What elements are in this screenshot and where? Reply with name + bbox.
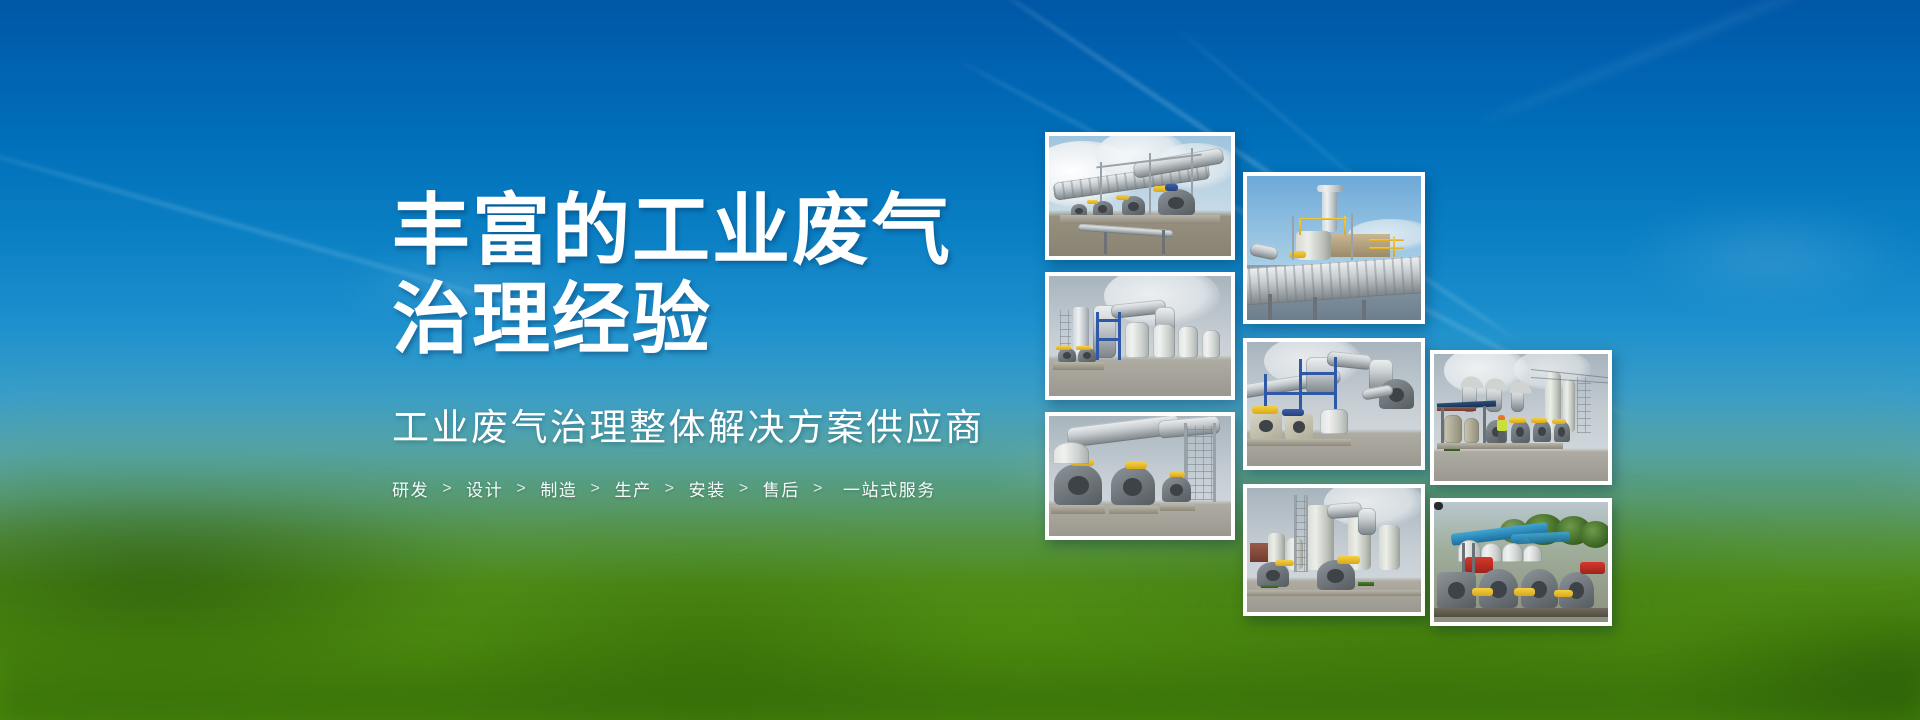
photo-duct-gallery-rooftop[interactable] (1045, 132, 1235, 260)
hero-banner: 丰富的工业废气 治理经验 工业废气治理整体解决方案供应商 研发 > 设计 > 制… (0, 0, 1920, 720)
breadcrumb-step-installation[interactable]: 安装 (689, 476, 726, 501)
banner-subtitle: 工业废气治理整体解决方案供应商 (392, 406, 1032, 450)
photo-rto-incinerator-stack[interactable] (1243, 172, 1425, 324)
photo-image (1247, 342, 1421, 466)
photo-spray-tower-plant[interactable] (1243, 484, 1425, 616)
chevron-right-icon: > (813, 480, 824, 498)
photo-image (1434, 354, 1608, 481)
chevron-right-icon: > (516, 480, 527, 498)
photo-image (1049, 276, 1231, 396)
breadcrumb-step-rd[interactable]: 研发 (392, 476, 429, 501)
photo-centrifugal-fan-row[interactable] (1045, 412, 1235, 540)
breadcrumb-step-manufacture[interactable]: 制造 (540, 476, 577, 501)
headline-line-2: 治理经验 (392, 275, 1032, 364)
photo-image (1247, 488, 1421, 612)
breadcrumb-step-onestop[interactable]: 一站式服务 (843, 476, 936, 501)
photo-image (1247, 176, 1421, 320)
photo-image (1434, 502, 1608, 622)
photo-blue-scaffold-duct-line[interactable] (1243, 338, 1425, 470)
photo-scrubber-tank-array[interactable] (1045, 272, 1235, 400)
chevron-right-icon: > (665, 480, 676, 498)
process-breadcrumb: 研发 > 设计 > 制造 > 生产 > 安装 > 售后 > 一站式服务 (392, 476, 1032, 501)
photo-fan-shipment-yard[interactable] (1430, 498, 1612, 626)
chevron-right-icon: > (442, 480, 453, 498)
chevron-right-icon: > (591, 480, 602, 498)
headline-line-1: 丰富的工业废气 (392, 186, 1032, 275)
breadcrumb-step-design[interactable]: 设计 (466, 476, 503, 501)
photo-worker-inspection-line[interactable] (1430, 350, 1612, 485)
breadcrumb-step-production[interactable]: 生产 (614, 476, 651, 501)
chevron-right-icon: > (739, 480, 750, 498)
banner-headline: 丰富的工业废气 治理经验 (392, 186, 1032, 364)
banner-copy-block: 丰富的工业废气 治理经验 工业废气治理整体解决方案供应商 研发 > 设计 > 制… (392, 186, 1032, 501)
photo-image (1049, 416, 1231, 536)
breadcrumb-step-aftersales[interactable]: 售后 (763, 476, 800, 501)
photo-image (1049, 136, 1231, 256)
